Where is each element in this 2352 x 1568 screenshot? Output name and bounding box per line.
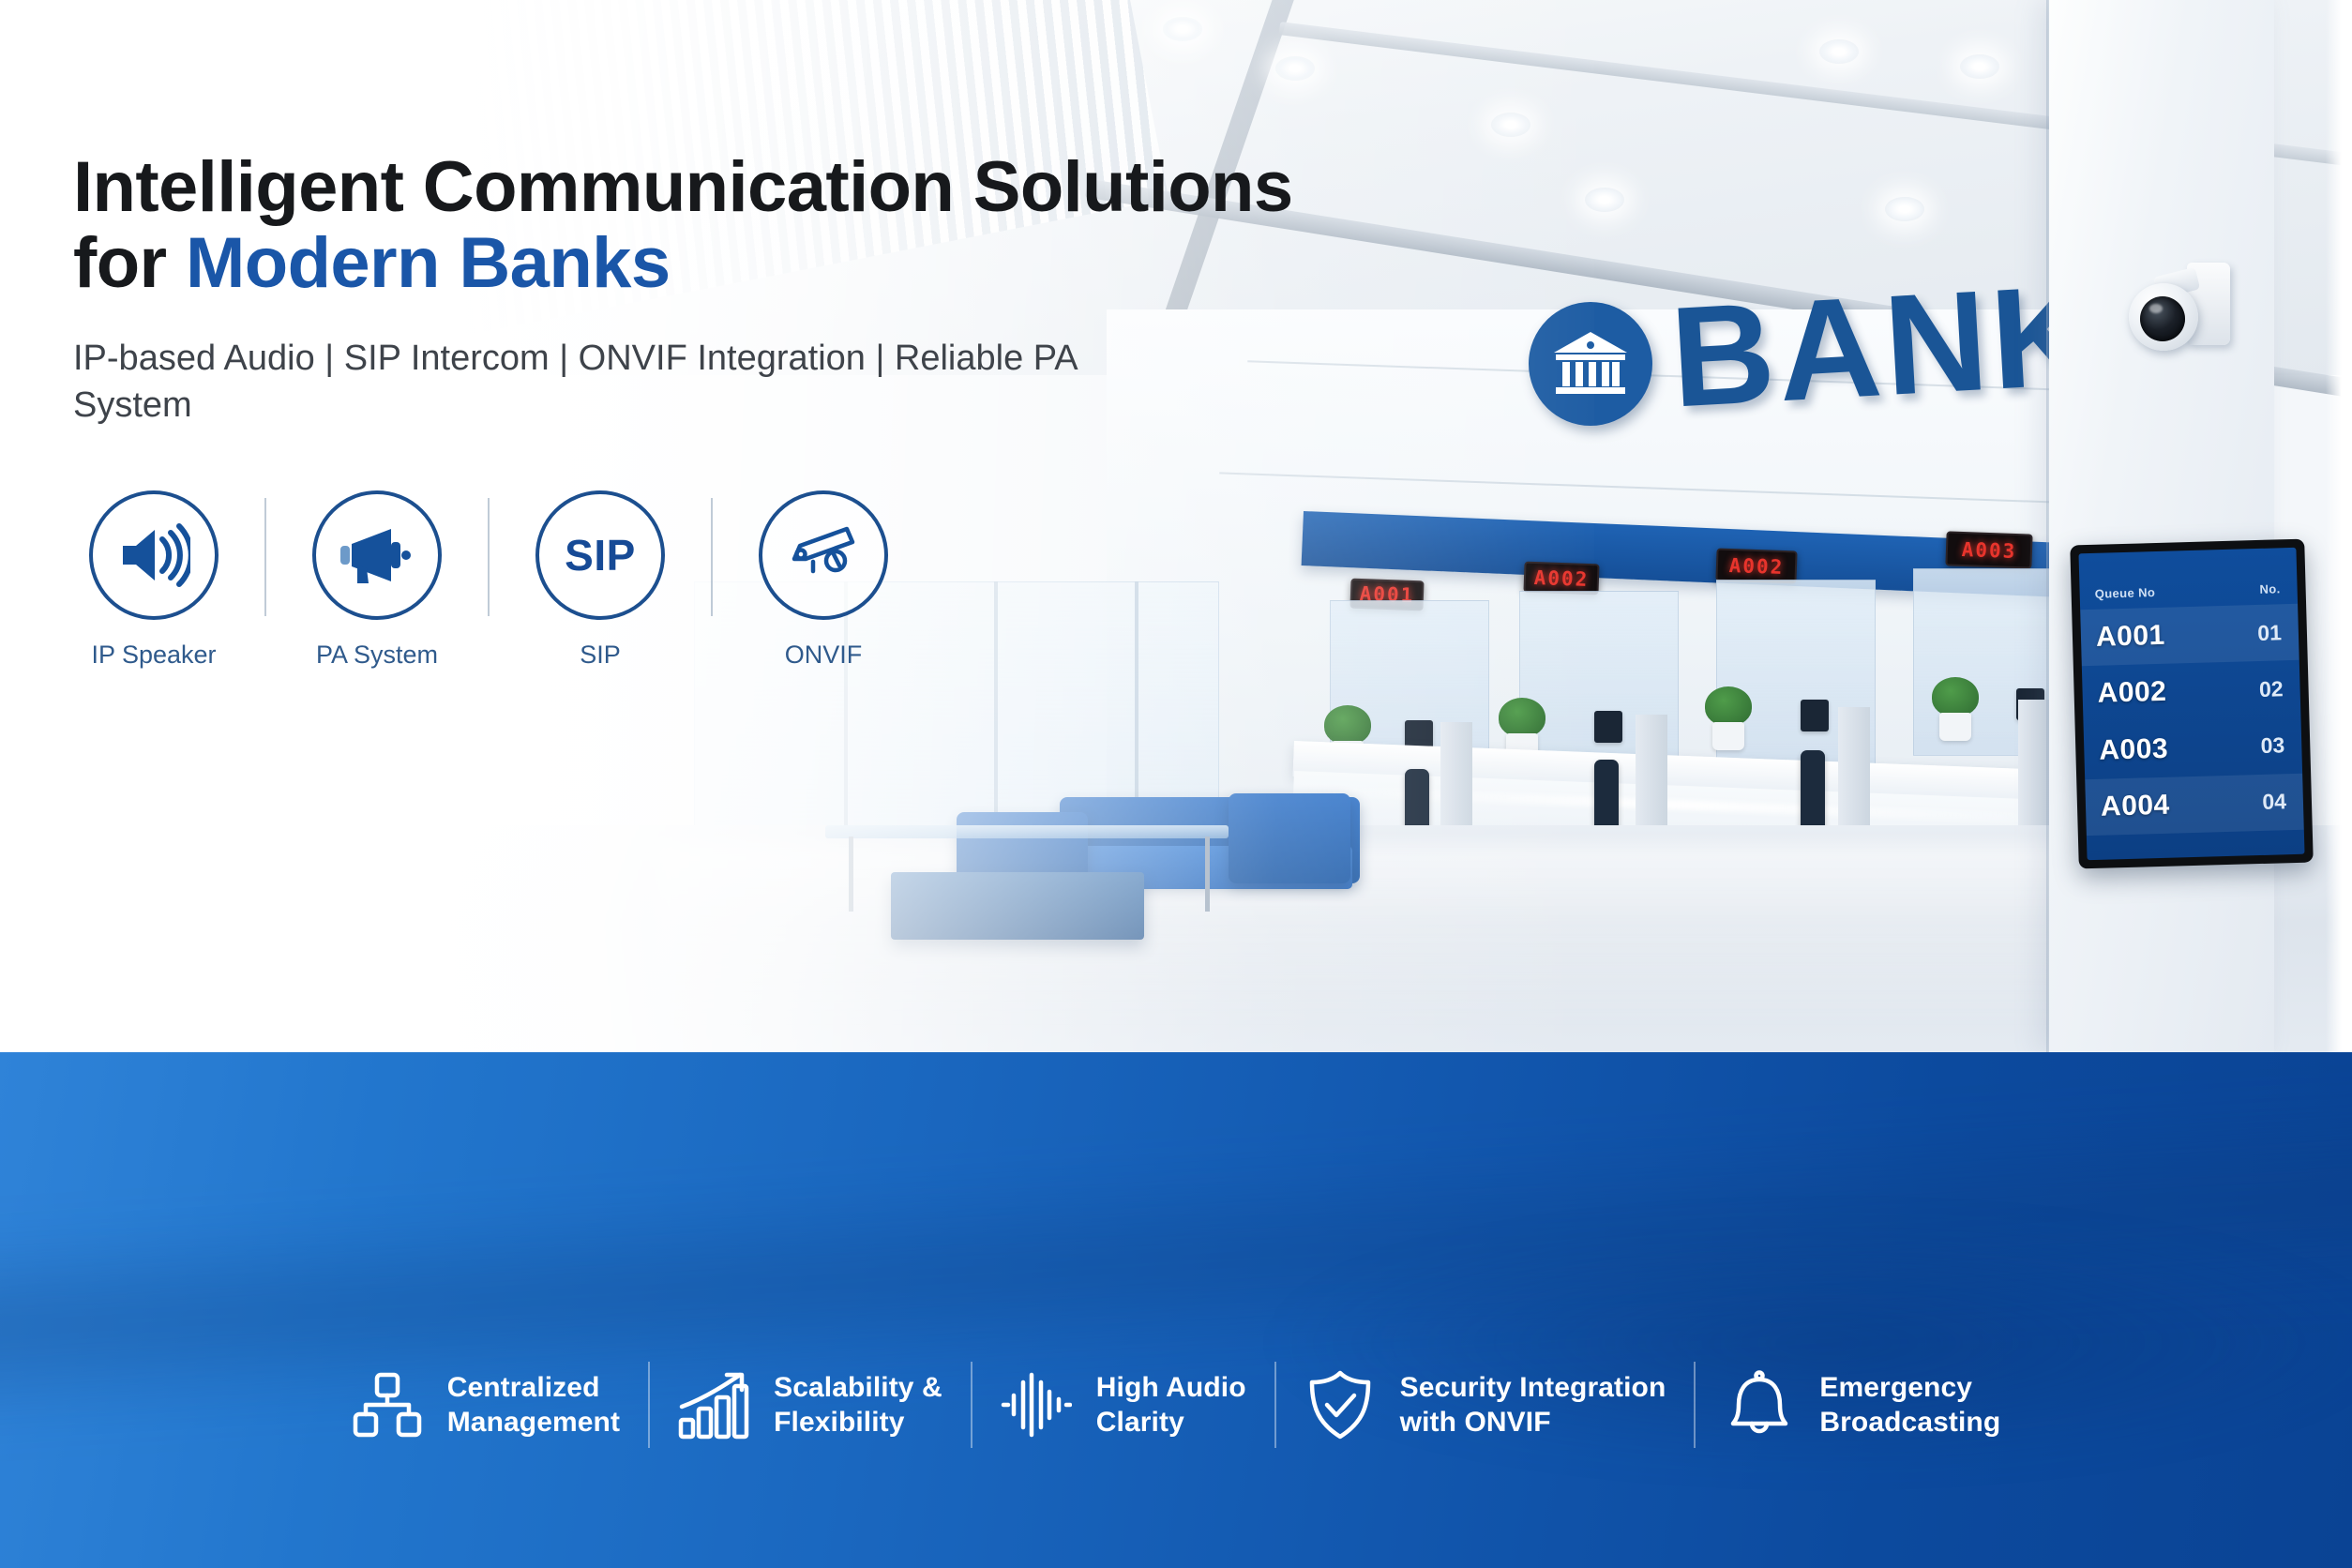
- tech-icon-row: IP Speaker PA System: [73, 490, 1480, 670]
- tech-item-pa-system[interactable]: PA System: [296, 490, 458, 670]
- tech-label: SIP: [580, 641, 621, 670]
- plant-pot: [1712, 722, 1744, 750]
- benefit-label: Centralized Management: [447, 1370, 620, 1440]
- camera-glint: [2149, 304, 2163, 313]
- megaphone-icon: [312, 490, 442, 620]
- hero-section: BANK A001 A002 A002 A003: [0, 0, 2352, 1052]
- benefit-label: Security Integration with ONVIF: [1400, 1370, 1666, 1440]
- lobby-glass-table: [825, 825, 1229, 838]
- counter-plant: [1705, 686, 1752, 726]
- counter-plant: [1932, 677, 1979, 716]
- led-text: A003: [1961, 537, 2016, 562]
- queue-code: A003: [2099, 732, 2169, 766]
- benefit-centralized-management[interactable]: Centralized Management: [324, 1369, 648, 1440]
- cctv-camera-icon: [759, 490, 888, 620]
- led-text: A002: [1533, 565, 1589, 590]
- right-edge-fade: [2326, 0, 2352, 1052]
- queue-counter-no: 04: [2262, 790, 2286, 816]
- tech-label: IP Speaker: [91, 641, 216, 670]
- hero-subhead: IP-based Audio | SIP Intercom | ONVIF In…: [73, 335, 1133, 429]
- dome-camera-icon: [2127, 255, 2230, 356]
- growth-chart-icon: [678, 1369, 749, 1440]
- queue-row: A001 01: [2080, 604, 2299, 667]
- benefit-scalability-flexibility[interactable]: Scalability & Flexibility: [650, 1369, 971, 1440]
- waiting-sofa: [1229, 793, 1350, 883]
- bell-icon: [1724, 1369, 1795, 1440]
- queue-row: A002 02: [2082, 660, 2301, 723]
- queue-code: A004: [2101, 790, 2171, 823]
- sip-icon-text: SIP: [565, 530, 636, 580]
- counter-plant: [1499, 698, 1545, 737]
- sip-text-icon: SIP: [535, 490, 665, 620]
- floor-reflection: [656, 844, 2063, 1032]
- headline-line-1: Intelligent Communication Solutions: [73, 150, 1480, 226]
- queue-code: A002: [2097, 676, 2167, 710]
- counter-led-display: A003: [1945, 531, 2032, 568]
- benefit-label: Emergency Broadcasting: [1819, 1370, 2000, 1440]
- tech-label: ONVIF: [785, 641, 863, 670]
- queue-counter-no: 01: [2257, 620, 2282, 646]
- table-leg: [1205, 837, 1210, 912]
- teller-monitor: [1801, 700, 1829, 731]
- headline-accent: Modern Banks: [186, 223, 670, 303]
- benefits-section: Centralized Management Scalability & Fle…: [0, 1052, 2352, 1568]
- headline-prefix: for: [73, 223, 186, 303]
- camera-lens: [2140, 296, 2185, 341]
- queue-code: A001: [2096, 620, 2166, 654]
- tech-item-ip-speaker[interactable]: IP Speaker: [73, 490, 234, 670]
- plant-pot: [1939, 713, 1971, 741]
- hero-content: Intelligent Communication Solutions for …: [73, 150, 1480, 670]
- org-chart-icon: [352, 1369, 423, 1440]
- queue-bottom-pad: [2087, 830, 2305, 860]
- ceiling-downlight: [1163, 17, 1202, 41]
- counter-plant: [1324, 705, 1371, 745]
- queue-row: A003 03: [2084, 716, 2303, 779]
- icon-divider: [264, 498, 266, 616]
- lobby-pillar: [2049, 0, 2274, 1052]
- marketing-banner: BANK A001 A002 A002 A003: [0, 0, 2352, 1568]
- benefit-label: Scalability & Flexibility: [774, 1370, 942, 1440]
- waveform-icon: [1001, 1369, 1072, 1440]
- tech-label: PA System: [316, 641, 438, 670]
- benefits-bar: Centralized Management Scalability & Fle…: [0, 1362, 2352, 1448]
- ceiling-downlight: [1275, 56, 1315, 81]
- bank-building-icon: [1529, 302, 1652, 426]
- table-leg: [849, 837, 853, 912]
- ceiling-downlight: [1491, 113, 1530, 137]
- queue-screen: Queue No No. A001 01 A002 02 A003 03: [2078, 548, 2304, 860]
- benefit-label: High Audio Clarity: [1096, 1370, 1246, 1440]
- icon-divider: [711, 498, 713, 616]
- icon-divider: [488, 498, 490, 616]
- tech-item-onvif[interactable]: ONVIF: [743, 490, 904, 670]
- queue-header-left: Queue No: [2094, 585, 2155, 601]
- queue-row: A004 04: [2085, 773, 2304, 836]
- bank-sign-text: BANK: [1666, 252, 2102, 440]
- speaker-wave-icon: [89, 490, 219, 620]
- benefit-high-audio-clarity[interactable]: High Audio Clarity: [972, 1369, 1274, 1440]
- lobby-coffee-table: [891, 872, 1144, 940]
- queue-counter-no: 03: [2260, 732, 2284, 759]
- queue-counter-no: 02: [2259, 676, 2284, 702]
- ceiling-downlight: [1819, 39, 1859, 64]
- bank-signage: BANK: [1529, 281, 2073, 460]
- ceiling-downlight: [1585, 188, 1624, 212]
- benefit-emergency-broadcasting[interactable]: Emergency Broadcasting: [1696, 1369, 2028, 1440]
- counter-led-display: A002: [1715, 549, 1797, 584]
- queue-header-right: No.: [2259, 581, 2281, 596]
- teller-monitor: [1594, 711, 1622, 743]
- ceiling-downlight: [1885, 197, 1924, 221]
- benefit-security-integration-onvif[interactable]: Security Integration with ONVIF: [1276, 1369, 1695, 1440]
- shield-check-icon: [1304, 1369, 1376, 1440]
- page-title: Intelligent Communication Solutions for …: [73, 150, 1480, 301]
- headline-line-2: for Modern Banks: [73, 226, 1480, 302]
- led-text: A002: [1728, 553, 1784, 578]
- tech-item-sip[interactable]: SIP SIP: [520, 490, 681, 670]
- ceiling-downlight: [1960, 54, 1999, 79]
- queue-display-board: Queue No No. A001 01 A002 02 A003 03: [2070, 539, 2314, 869]
